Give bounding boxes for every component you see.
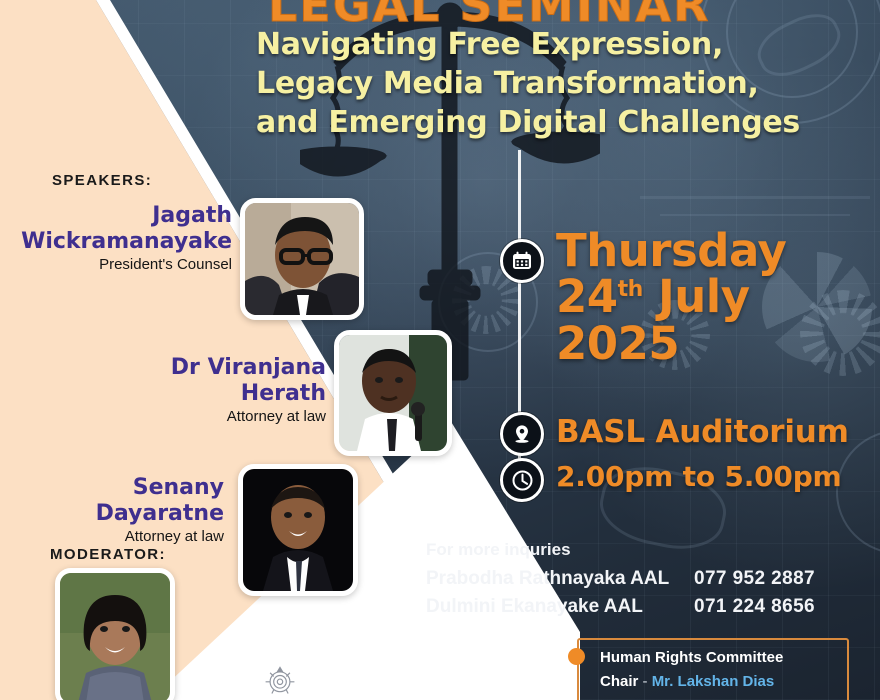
event-poster: LEGAL SEMINAR Navigating Free Expression… — [0, 0, 880, 700]
contact-1-phone: 077 952 2887 — [694, 565, 815, 593]
date-ordinal: th — [618, 277, 643, 302]
committee-separator: - — [638, 673, 651, 690]
speaker-1: Jagath Wickramanayake President's Counse… — [0, 203, 232, 273]
calendar-icon — [500, 239, 544, 283]
headline-line-3: and Emerging Digital Challenges — [256, 103, 816, 142]
date-number: 24 — [556, 270, 618, 323]
location-pin-icon — [500, 412, 544, 456]
organization-emblem-icon — [262, 662, 298, 698]
committee-chair-name: Mr. Lakshan Dias — [652, 673, 775, 690]
speaker-2-photo — [334, 330, 452, 456]
speaker-2-name-line-2: Herath — [0, 381, 326, 407]
speaker-1-name-line-2: Wickramanayake — [0, 229, 232, 255]
speaker-2-title: Attorney at law — [0, 408, 326, 425]
speaker-2: Dr Viranjana Herath Attorney at law — [0, 355, 326, 425]
committee-bullet-icon — [568, 648, 585, 665]
date-year: 2025 — [556, 317, 679, 370]
event-time: 2.00pm to 5.00pm — [556, 460, 842, 493]
event-venue: BASL Auditorium — [556, 414, 849, 450]
speaker-3-photo — [238, 464, 358, 596]
speaker-1-photo — [240, 198, 364, 320]
date-day: Thursday — [556, 224, 786, 277]
speaker-1-title: President's Counsel — [0, 256, 232, 273]
contact-row: Dulmini Ekanayake AAL 071 224 8656 — [426, 593, 815, 621]
speakers-label: SPEAKERS: — [52, 172, 152, 189]
contact-2-name: Dulmini Ekanayake AAL — [426, 593, 694, 621]
inquiries-heading: For more inquries — [426, 540, 815, 560]
contact-row: Prabodha Rathnayaka AAL 077 952 2887 — [426, 565, 815, 593]
moderator-label: MODERATOR: — [50, 546, 166, 563]
event-date: Thursday 24th July 2025 — [556, 228, 786, 367]
speaker-3-name-line-1: Senany Dayaratne — [0, 475, 224, 526]
clock-icon — [500, 458, 544, 502]
speaker-3: Senany Dayaratne Attorney at law — [0, 475, 224, 545]
moderator-photo — [55, 568, 175, 700]
headline-line-1: Navigating Free Expression, — [256, 25, 816, 64]
committee-chair-line: Chair - Mr. Lakshan Dias — [600, 670, 783, 694]
speaker-2-name-line-1: Dr Viranjana — [0, 355, 326, 381]
headline-line-2: Legacy Media Transformation, — [256, 64, 816, 103]
date-month: July — [658, 270, 750, 323]
inquiries-block: For more inquries Prabodha Rathnayaka AA… — [426, 540, 815, 620]
committee-role: Chair — [600, 673, 638, 690]
decor-gear-icon — [800, 290, 880, 376]
speaker-3-title: Attorney at law — [0, 528, 224, 545]
contact-1-name: Prabodha Rathnayaka AAL — [426, 565, 694, 593]
decor-line — [640, 196, 870, 199]
decor-line — [660, 214, 850, 216]
contact-2-phone: 071 224 8656 — [694, 593, 815, 621]
committee-text: Human Rights Committee Chair - Mr. Laksh… — [600, 646, 783, 695]
page-title: Navigating Free Expression, Legacy Media… — [256, 25, 816, 142]
committee-title: Human Rights Committee — [600, 646, 783, 670]
speaker-1-name-line-1: Jagath — [0, 203, 232, 229]
